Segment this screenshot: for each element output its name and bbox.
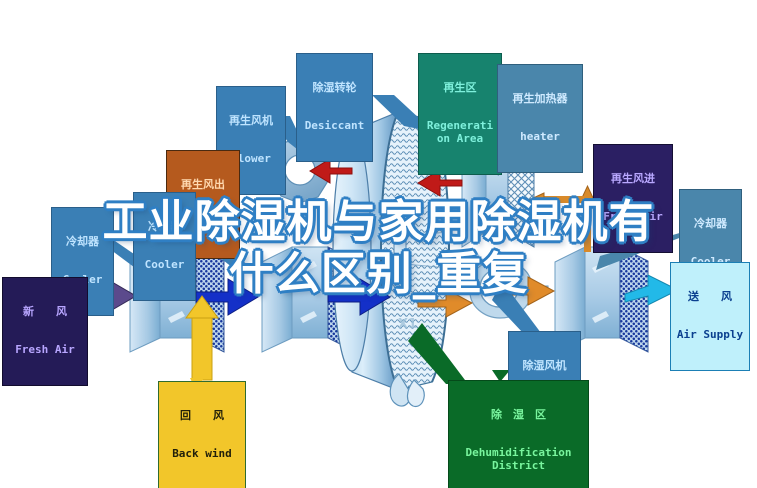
arrow-regen-fresh-air [530, 186, 594, 252]
label-back-wind: 回 风 Back wind [158, 381, 246, 488]
dehumidifier-diagram: X1 [0, 0, 757, 488]
label-desiccant: 除湿转轮 Desiccant [296, 53, 373, 162]
label-regeneration-area: 再生区 Regenerati on Area [418, 53, 502, 175]
label-cooler-left-2: 冷却器 Cooler [133, 192, 196, 301]
label-air-supply: 送 风 Air Supply [670, 262, 750, 371]
rotor-watermark: X1 [398, 317, 417, 332]
label-regen-heater: 再生加热器 heater [497, 64, 583, 173]
label-regen-fresh-air: 再生风进 Fresh Air [593, 144, 673, 253]
label-fresh-air: 新 风 Fresh Air [2, 277, 88, 386]
label-dehumidification-district: 除 湿 区 Dehumidification District [448, 380, 589, 488]
